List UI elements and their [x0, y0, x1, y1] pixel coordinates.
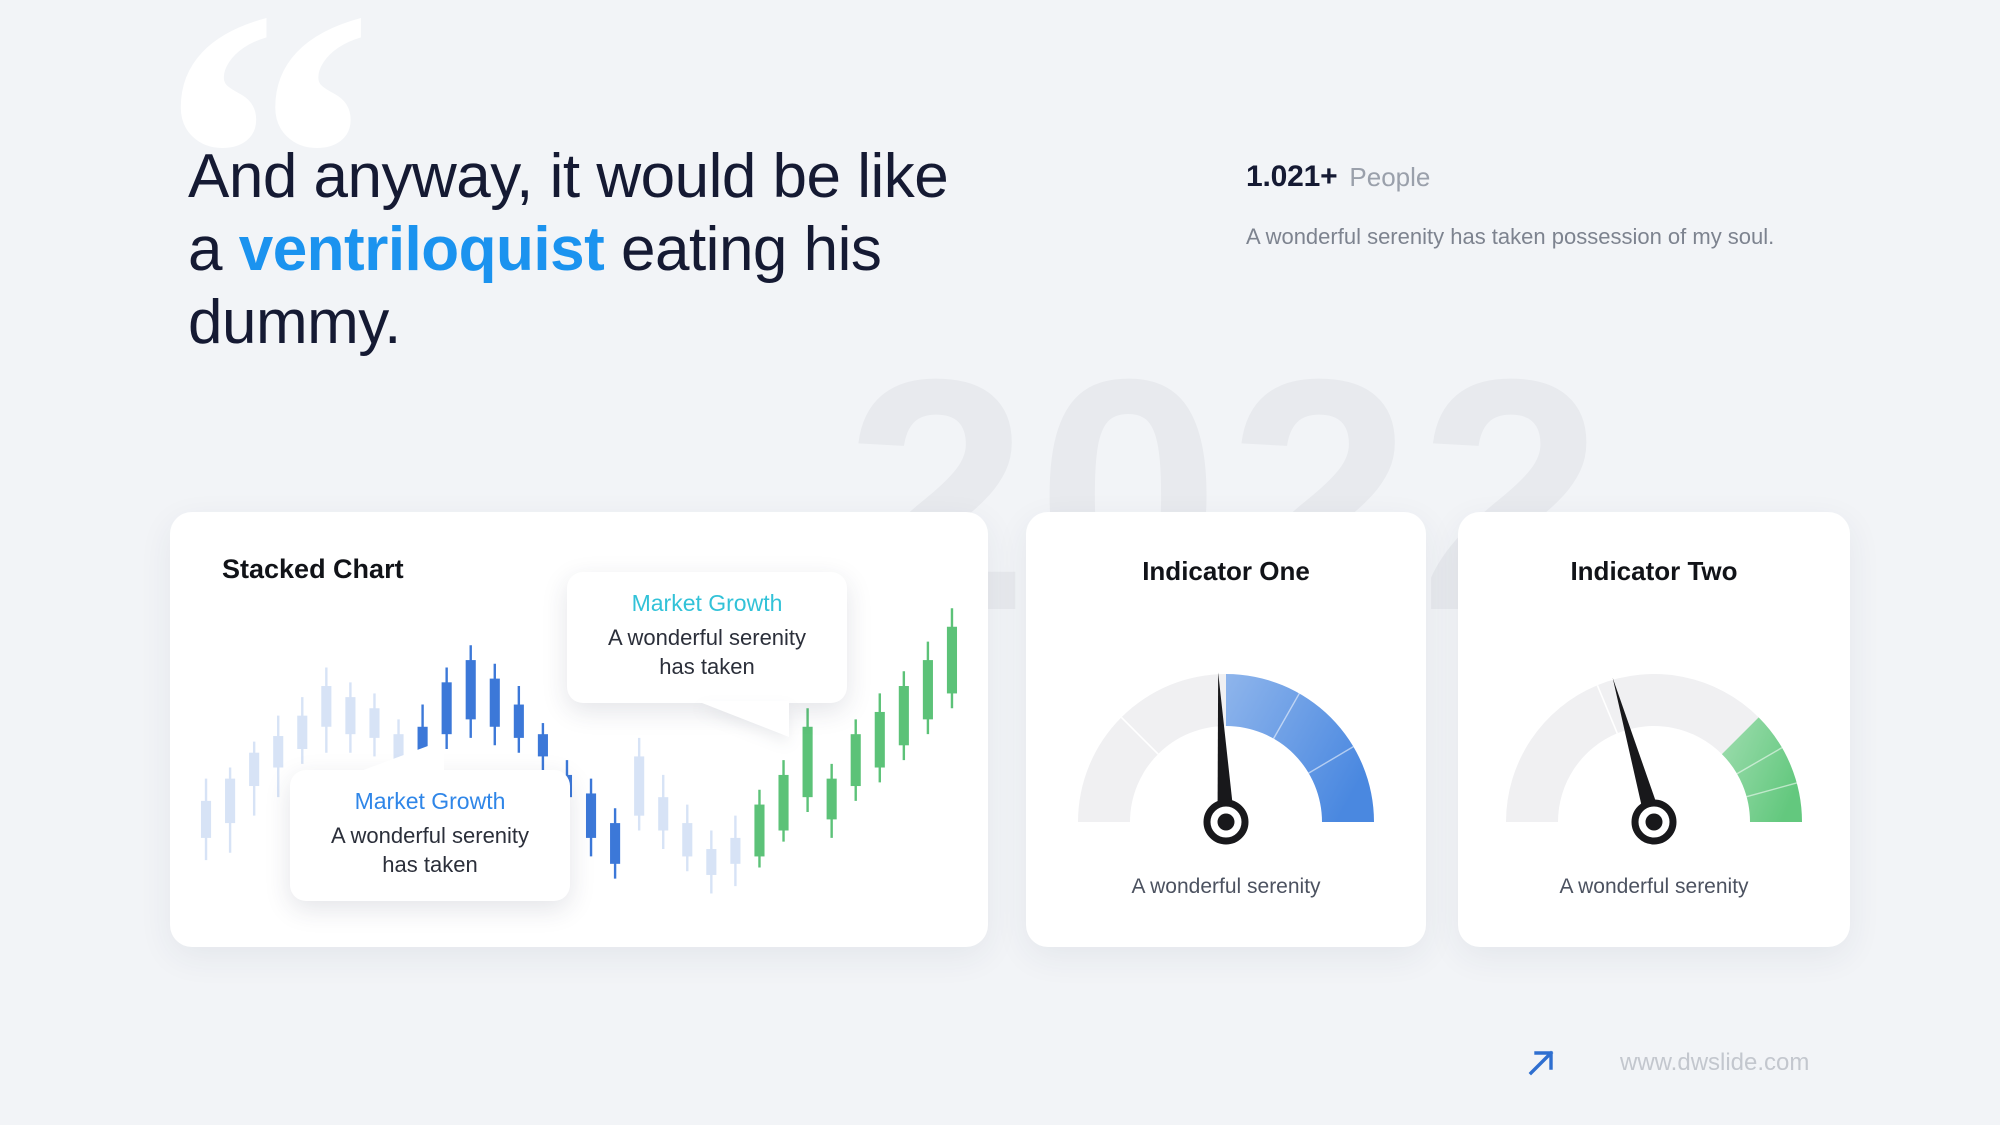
stats-number: 1.021+ [1246, 160, 1337, 194]
quote-line-2: a ventriloquist eating his [188, 213, 1108, 286]
footer: www.dwslide.com [1524, 1046, 1809, 1080]
chart-tooltip-lower-title: Market Growth [316, 788, 544, 815]
chart-tooltip-lower-tail [358, 740, 444, 772]
indicator-one-gauge [1026, 622, 1426, 902]
indicator-one-card: Indicator One A wonderful serenity [1026, 512, 1426, 947]
indicator-two-card: Indicator Two A wonderful serenity [1458, 512, 1850, 947]
quote-block: And anyway, it would be like a ventriloq… [188, 140, 1108, 359]
chart-tooltip-upper[interactable]: Market Growth A wonderful serenity has t… [567, 572, 847, 703]
chart-tooltip-lower-line1: A wonderful serenity [316, 822, 544, 851]
chart-tooltip-lower-line2: has taken [316, 851, 544, 880]
indicator-two-gauge [1458, 622, 1850, 902]
arrow-up-right-icon[interactable] [1524, 1046, 1558, 1080]
stats-unit-label: People [1349, 162, 1430, 193]
stats-description: A wonderful serenity has taken possessio… [1246, 220, 1806, 255]
stats-block: 1.021+ People A wonderful serenity has t… [1246, 160, 1806, 255]
footer-url[interactable]: www.dwslide.com [1620, 1049, 1809, 1077]
chart-tooltip-upper-line2: has taken [593, 653, 821, 682]
quote-line-2-post: eating his [604, 215, 881, 284]
quote-line-1: And anyway, it would be like [188, 140, 1108, 213]
indicator-one-caption: A wonderful serenity [1026, 875, 1426, 899]
chart-tooltip-lower[interactable]: Market Growth A wonderful serenity has t… [290, 770, 570, 901]
quote-highlight-word: ventriloquist [239, 215, 605, 284]
indicator-one-title: Indicator One [1026, 556, 1426, 587]
chart-tooltip-upper-title: Market Growth [593, 590, 821, 617]
chart-tooltip-upper-tail [697, 701, 789, 737]
indicator-two-caption: A wonderful serenity [1458, 875, 1850, 899]
stats-headline: 1.021+ People [1246, 160, 1806, 194]
indicator-two-title: Indicator Two [1458, 556, 1850, 587]
quote-line-2-pre: a [188, 215, 239, 284]
chart-tooltip-upper-line1: A wonderful serenity [593, 624, 821, 653]
quote-line-3: dummy. [188, 286, 1108, 359]
